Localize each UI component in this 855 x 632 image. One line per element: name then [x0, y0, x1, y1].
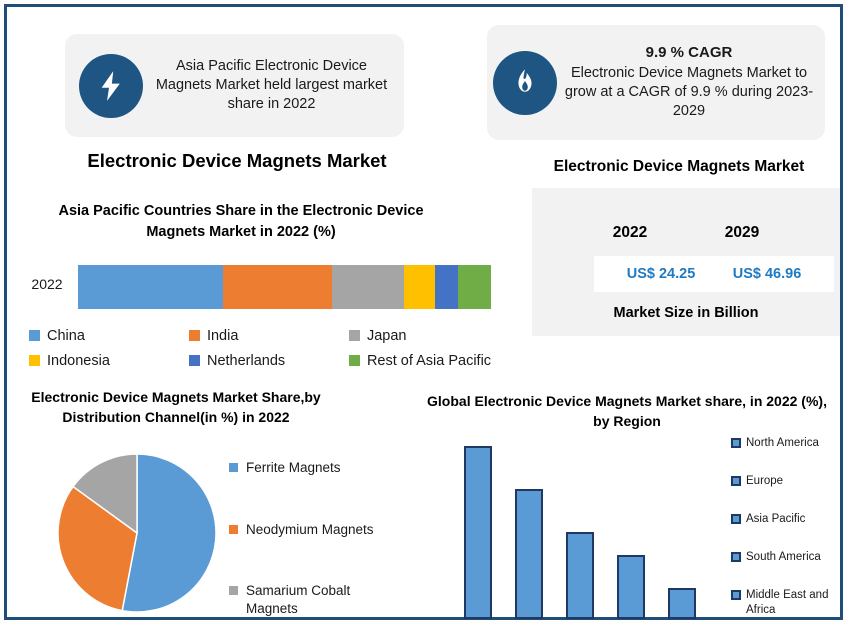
callout-card-cagr: 9.9 % CAGR Electronic Device Magnets Mar… [487, 25, 825, 140]
market-size-panel-title: Electronic Device Magnets Market [519, 158, 839, 176]
legend-swatch-icon [189, 330, 200, 341]
stacked-bar-chart: 2022 [21, 265, 491, 311]
cagr-heading: 9.9 % CAGR [561, 44, 817, 61]
legend-swatch-icon [29, 355, 40, 366]
page-title: Electronic Device Magnets Market [47, 150, 427, 172]
stacked-bar-track [78, 265, 491, 309]
legend-swatch-icon [731, 438, 741, 448]
legend-item: South America [731, 550, 849, 565]
stacked-bar-chart-title: Asia Pacific Countries Share in the Elec… [41, 201, 441, 243]
legend-label: Indonesia [47, 353, 110, 369]
bar-column [515, 489, 543, 619]
legend-swatch-icon [731, 552, 741, 562]
legend-swatch-icon [189, 355, 200, 366]
stacked-bar-segment [458, 265, 491, 309]
stacked-bar-segment [332, 265, 404, 309]
legend-item: China [29, 323, 189, 348]
market-size-year-row: 2022 2029 [532, 224, 840, 242]
legend-label: India [207, 328, 238, 344]
bar-column [464, 446, 492, 619]
cagr-description: Electronic Device Magnets Market to grow… [561, 64, 817, 121]
market-size-value-2022: US$ 24.25 [615, 266, 707, 282]
legend-item: Europe [731, 474, 849, 489]
legend-swatch-icon [229, 463, 238, 472]
callout-card-left-text: Asia Pacific Electronic Device Magnets M… [143, 57, 404, 114]
legend-label: Europe [746, 474, 783, 489]
legend-item: Middle East and Africa [731, 588, 849, 618]
legend-item: Indonesia [29, 348, 189, 373]
region-bar-chart [447, 437, 737, 619]
stacked-bar-segment [404, 265, 435, 309]
legend-item: Asia Pacific [731, 512, 849, 527]
legend-item: Rest of Asia Pacific [349, 348, 509, 373]
legend-item: Japan [349, 323, 509, 348]
market-size-value-strip: US$ 24.25 US$ 46.96 [594, 256, 834, 292]
legend-label: Middle East and Africa [746, 588, 849, 618]
market-size-value-2029: US$ 46.96 [721, 266, 813, 282]
legend-label: South America [746, 550, 821, 565]
stacked-bar-segment [223, 265, 332, 309]
legend-swatch-icon [731, 476, 741, 486]
legend-label: Rest of Asia Pacific [367, 353, 491, 369]
market-size-panel: 2022 2029 US$ 24.25 US$ 46.96 Market Siz… [532, 188, 840, 336]
legend-swatch-icon [29, 330, 40, 341]
lightning-bolt-icon [79, 54, 143, 118]
stacked-bar-segment [78, 265, 223, 309]
pie-chart-title: Electronic Device Magnets Market Share,b… [31, 388, 321, 428]
legend-label: Asia Pacific [746, 512, 805, 527]
legend-swatch-icon [349, 355, 360, 366]
legend-label: Netherlands [207, 353, 285, 369]
legend-swatch-icon [731, 514, 741, 524]
bar-column [617, 555, 645, 619]
market-size-year-2029: 2029 [707, 224, 777, 242]
legend-label: Neodymium Magnets [246, 521, 374, 539]
legend-label: Ferrite Magnets [246, 459, 341, 477]
legend-label: China [47, 328, 85, 344]
legend-item: Samarium Cobalt Magnets [229, 582, 404, 618]
market-size-caption: Market Size in Billion [532, 305, 840, 321]
infographic-frame: Asia Pacific Electronic Device Magnets M… [4, 4, 843, 620]
legend-swatch-icon [349, 330, 360, 341]
legend-swatch-icon [229, 586, 238, 595]
legend-label: North America [746, 436, 819, 451]
legend-item: Netherlands [189, 348, 349, 373]
legend-item: India [189, 323, 349, 348]
legend-item: North America [731, 436, 849, 451]
flame-icon [493, 51, 557, 115]
legend-item: Neodymium Magnets [229, 521, 404, 539]
legend-swatch-icon [731, 590, 741, 600]
bar-column [668, 588, 696, 619]
legend-item: Ferrite Magnets [229, 459, 404, 477]
stacked-bar-segment [435, 265, 458, 309]
pie-chart [55, 451, 219, 615]
stacked-bar-legend: ChinaIndiaJapanIndonesiaNetherlandsRest … [29, 323, 509, 373]
legend-swatch-icon [229, 525, 238, 534]
stacked-bar-category-label: 2022 [21, 276, 73, 292]
callout-card-asia-pacific: Asia Pacific Electronic Device Magnets M… [65, 34, 404, 137]
market-size-year-2022: 2022 [595, 224, 665, 242]
bar-column [566, 532, 594, 619]
legend-label: Samarium Cobalt Magnets [246, 582, 404, 618]
legend-label: Japan [367, 328, 407, 344]
region-bar-chart-title: Global Electronic Device Magnets Market … [427, 391, 827, 432]
